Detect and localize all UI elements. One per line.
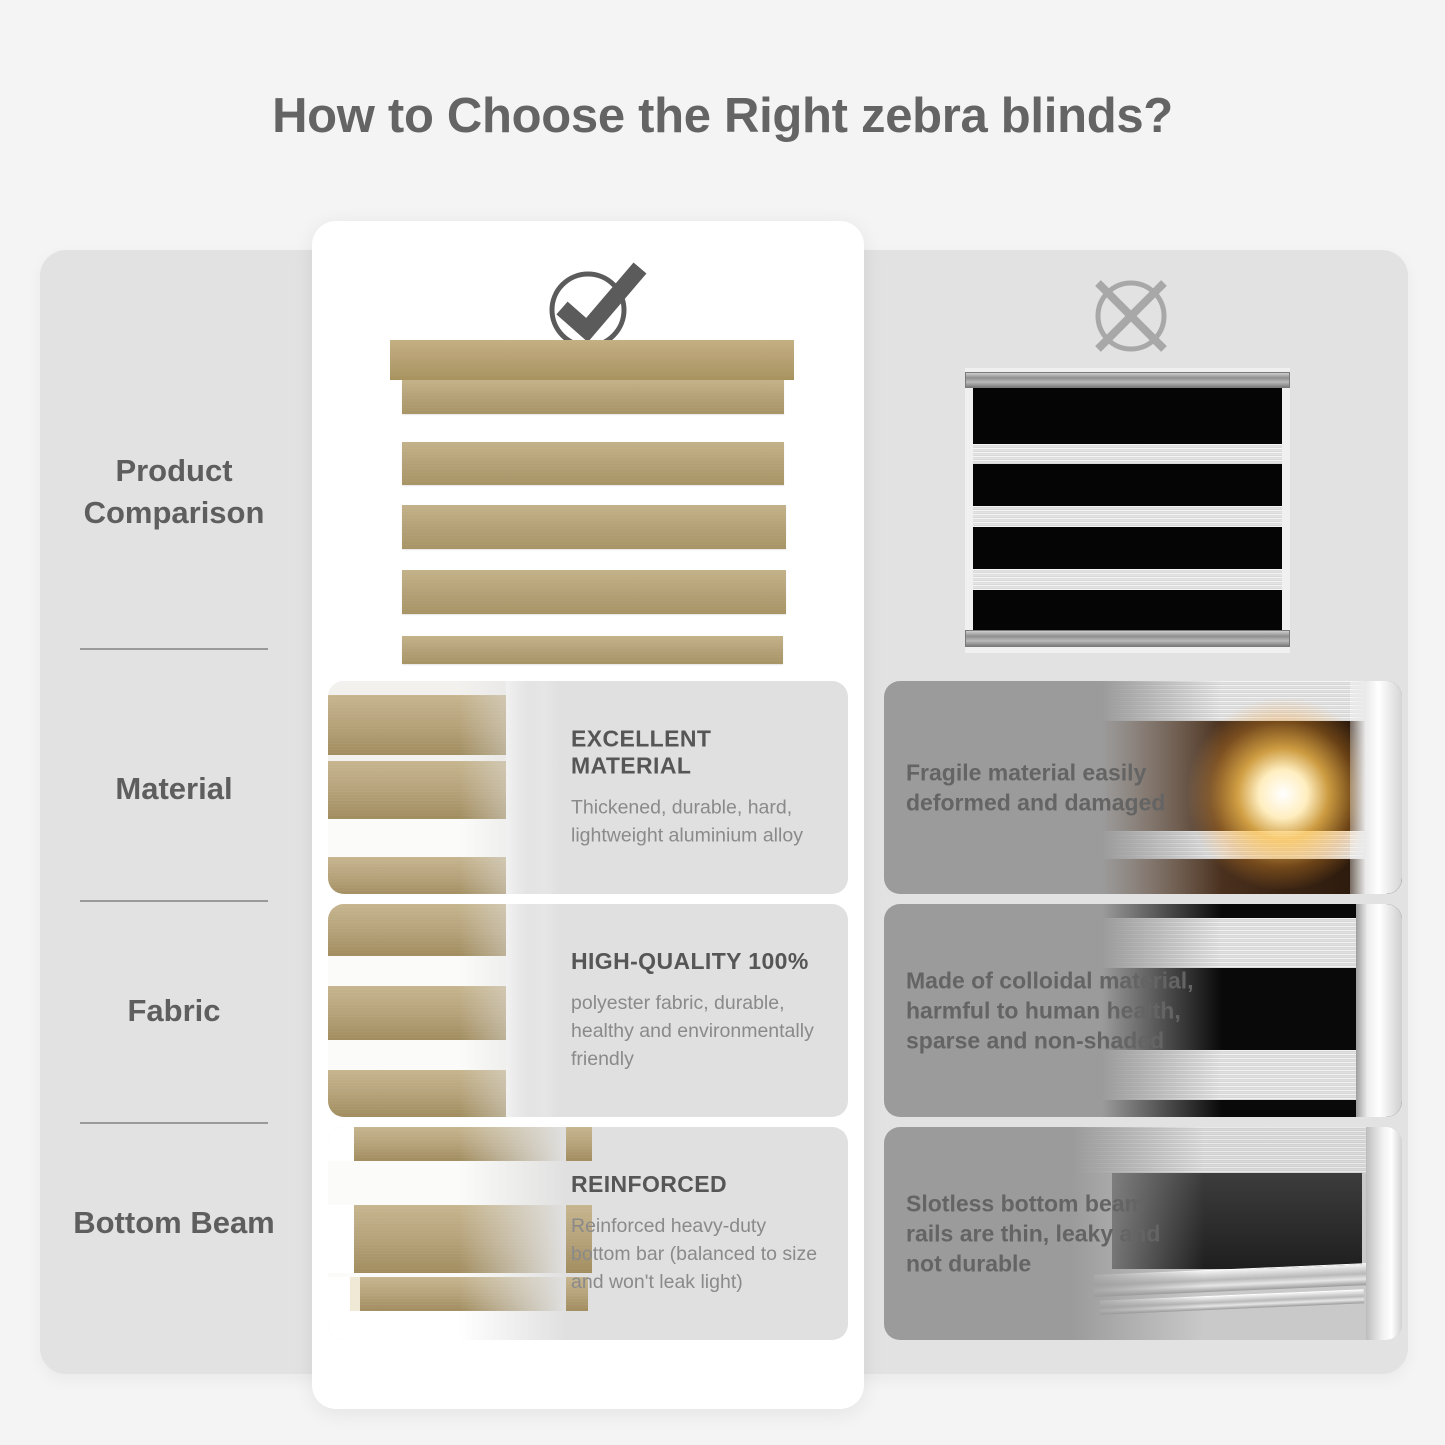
bad-feature-card-bottom-beam: Slotless bottom beam rails are thin, lea…: [884, 1127, 1402, 1340]
sidebar-label: Fabric: [127, 990, 220, 1032]
feature-text: HIGH-QUALITY 100% polyester fabric, dura…: [571, 948, 830, 1074]
good-feature-card-fabric: HIGH-QUALITY 100% polyester fabric, dura…: [328, 904, 848, 1117]
blind-headrail: [965, 372, 1290, 388]
tan-blind-window-photo: [328, 681, 566, 894]
blind-sheer-band: [973, 569, 1282, 590]
blind-black-band: [973, 388, 1282, 444]
sidebar-label: Product Comparison: [40, 450, 308, 534]
blind-black-band: [973, 464, 1282, 506]
bad-feature-card-fabric: Made of colloidal material, harmful to h…: [884, 904, 1402, 1117]
feature-body: polyester fabric, durable, healthy and e…: [571, 989, 830, 1074]
blind-slat: [402, 505, 786, 549]
sidebar-label: Bottom Beam: [73, 1202, 275, 1244]
tan-blind-fabric-photo: [328, 904, 566, 1117]
good-feature-card-material: EXCELLENT MATERIAL Thickened, durable, h…: [328, 681, 848, 894]
good-product-image: [380, 340, 800, 670]
sidebar-divider: [80, 648, 268, 650]
page-title: How to Choose the Right zebra blinds?: [0, 88, 1445, 144]
sidebar-item-material: Material: [40, 758, 308, 820]
blind-black-band: [973, 590, 1282, 630]
sidebar-item-fabric: Fabric: [40, 980, 308, 1042]
blind-black-band: [973, 527, 1282, 569]
feature-text: EXCELLENT MATERIAL Thickened, durable, h…: [571, 725, 830, 850]
sidebar-label: Material: [115, 768, 232, 810]
feature-heading: EXCELLENT MATERIAL: [571, 725, 830, 779]
sidebar-item-bottom-beam: Bottom Beam: [40, 1168, 308, 1278]
feature-text: Made of colloidal material, harmful to h…: [906, 965, 1196, 1056]
blind-slat: [402, 380, 784, 414]
feature-heading: HIGH-QUALITY 100%: [571, 948, 830, 975]
blind-bottom-rail: [965, 630, 1290, 647]
sidebar: Product Comparison Material Fabric Botto…: [40, 250, 308, 1374]
tan-bottom-bar-photo: [328, 1127, 566, 1340]
feature-body: Thickened, durable, hard, lightweight al…: [571, 793, 830, 850]
feature-text: Fragile material easily deformed and dam…: [906, 757, 1196, 818]
blind-sheer-band: [973, 506, 1282, 527]
blind-bottom-bar: [402, 636, 783, 664]
blind-headrail: [390, 340, 794, 380]
sidebar-divider: [80, 1122, 268, 1124]
feature-text: REINFORCED Reinforced heavy-duty bottom …: [571, 1171, 830, 1297]
blind-slat: [402, 570, 786, 614]
sidebar-item-product-comparison: Product Comparison: [40, 432, 308, 552]
cross-circle-icon: [1085, 272, 1177, 360]
sidebar-divider: [80, 900, 268, 902]
bad-feature-card-material: Fragile material easily deformed and dam…: [884, 681, 1402, 894]
feature-heading: REINFORCED: [571, 1171, 830, 1198]
good-feature-card-bottom-beam: REINFORCED Reinforced heavy-duty bottom …: [328, 1127, 848, 1340]
feature-body: Reinforced heavy-duty bottom bar (balanc…: [571, 1212, 830, 1297]
blind-sheer-band: [973, 444, 1282, 464]
bad-product-image: [965, 368, 1290, 653]
blind-slat: [402, 442, 784, 485]
feature-text: Slotless bottom beam rails are thin, lea…: [906, 1188, 1196, 1279]
